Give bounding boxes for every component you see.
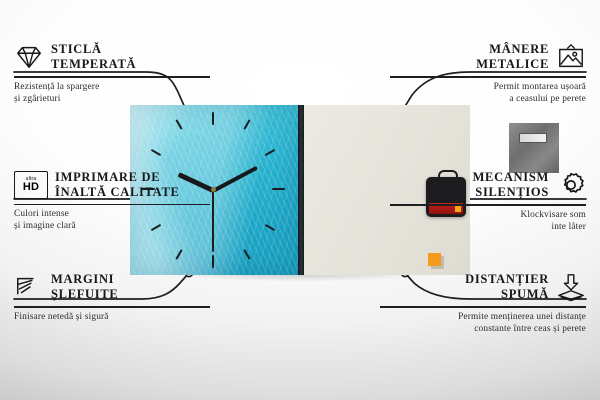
foam-spacer-icon bbox=[556, 272, 586, 302]
callout-title-line2: SILENȚIOS bbox=[473, 185, 549, 200]
callout-title-line1: IMPRIMARE DE bbox=[55, 170, 180, 185]
callout-subtitle-line1: Culori intense bbox=[14, 208, 210, 220]
diagonal-lines-icon bbox=[14, 272, 44, 302]
callout-title-line1: DISTANȚIER bbox=[465, 272, 549, 287]
callout-title-line2: ŞLEFUITE bbox=[51, 287, 118, 302]
callout-rule bbox=[14, 76, 210, 78]
callout-subtitle-line1: Klockvisare som bbox=[390, 209, 586, 221]
callout-rule bbox=[390, 204, 586, 206]
metal-hanger-plate bbox=[509, 123, 559, 173]
callout-mecanism-silentios: MECANISM SILENȚIOS Klockvisare som inte … bbox=[390, 170, 586, 233]
foam-spacer bbox=[428, 253, 441, 266]
callout-title-line1: MÂNERE bbox=[476, 42, 549, 57]
callout-subtitle-line1: Finisare netedă și sigură bbox=[14, 311, 210, 323]
callout-subtitle-line1: Permite menținerea unei distanțe bbox=[380, 311, 586, 323]
gear-icon bbox=[556, 170, 586, 200]
callout-distantier-spuma: DISTANȚIER SPUMĂ Permite menținerea unei… bbox=[380, 272, 586, 335]
callout-subtitle-line2: inte låter bbox=[390, 221, 586, 233]
infographic-canvas: STICLĂ TEMPERATĂ Rezistență la spargere … bbox=[0, 0, 600, 400]
ultra-hd-big-label: HD bbox=[23, 182, 39, 193]
callout-subtitle-line2: și imagine clară bbox=[14, 220, 210, 232]
callout-subtitle-line1: Permit montarea ușoară bbox=[390, 81, 586, 93]
callout-subtitle-line1: Rezistență la spargere bbox=[14, 81, 210, 93]
callout-rule bbox=[14, 306, 210, 308]
callout-manere-metalice: MÂNERE METALICE Permit montarea ușoară a… bbox=[390, 42, 586, 105]
picture-hanger-icon bbox=[556, 42, 586, 72]
callout-title-line2: ÎNALTĂ CALITATE bbox=[55, 185, 180, 200]
callout-title-line2: SPUMĂ bbox=[465, 287, 549, 302]
callout-title-line1: MECANISM bbox=[473, 170, 549, 185]
ultra-hd-icon: ultra HD bbox=[14, 171, 48, 199]
callout-title-line2: TEMPERATĂ bbox=[51, 57, 136, 72]
callout-rule bbox=[380, 306, 586, 308]
diamond-icon bbox=[14, 42, 44, 72]
callout-title-line1: STICLĂ bbox=[51, 42, 136, 57]
callout-subtitle-line2: constante între ceas și perete bbox=[380, 323, 586, 335]
callout-rule bbox=[14, 204, 210, 206]
callout-imprimare-hd: ultra HD IMPRIMARE DE ÎNALTĂ CALITATE Cu… bbox=[14, 170, 210, 233]
callout-sticla-temperata: STICLĂ TEMPERATĂ Rezistență la spargere … bbox=[14, 42, 210, 105]
callout-title-line1: MARGINI bbox=[51, 272, 118, 287]
callout-subtitle-line2: și zgârieturi bbox=[14, 93, 210, 105]
callout-subtitle-line2: a ceasului pe perete bbox=[390, 93, 586, 105]
callout-title-line2: METALICE bbox=[476, 57, 549, 72]
hanger-slot bbox=[519, 133, 547, 143]
callout-margini-slefuite: MARGINI ŞLEFUITE Finisare netedă și sigu… bbox=[14, 272, 210, 323]
callout-rule bbox=[390, 76, 586, 78]
